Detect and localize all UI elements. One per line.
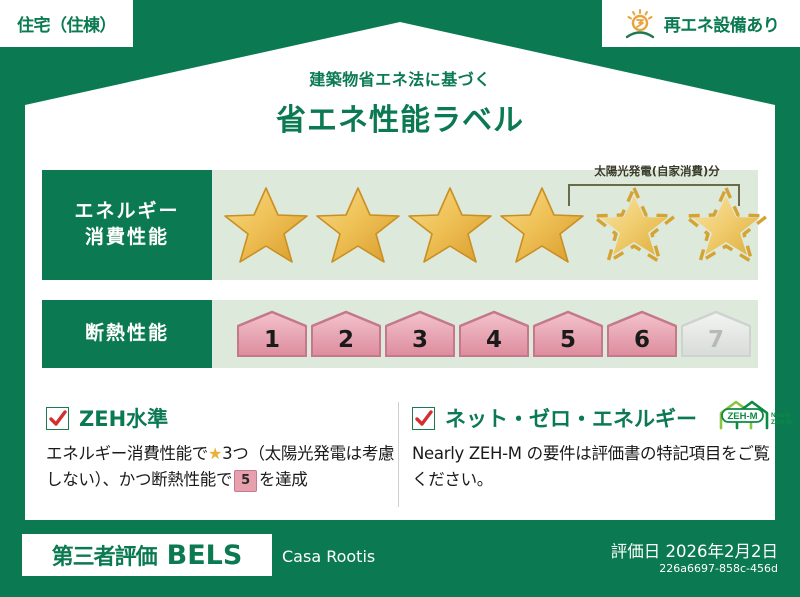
renewable-equipment-label: 再エネ設備あり bbox=[664, 11, 780, 36]
net-zero-energy-description: Nearly ZEH-M の要件は評価書の特記項目をご覧ください。 bbox=[412, 441, 772, 492]
svg-text:ZEH-M: ZEH-M bbox=[727, 411, 757, 422]
building-type-badge: 住宅（住棟） bbox=[0, 0, 133, 47]
insulation-performance-label-cell: 断熱性能 bbox=[42, 300, 212, 368]
renewable-equipment-badge: 再エネ設備あり bbox=[602, 0, 800, 47]
evaluation-date: 評価日 2026年2月2日 bbox=[611, 538, 778, 562]
zeh-desc-part3: を達成 bbox=[259, 470, 308, 489]
bels-logo-label: BELS bbox=[167, 540, 243, 571]
zeh-standard-title: ZEH水準 bbox=[79, 403, 168, 433]
grade-value: 5 bbox=[560, 327, 576, 358]
evaluation-id: 226a6697-858c-456d bbox=[659, 562, 778, 575]
svg-text:ZEH-M: ZEH-M bbox=[771, 419, 792, 426]
energy-performance-label-cell: エネルギー 消費性能 bbox=[42, 170, 212, 280]
page-title: 建築物省エネ法に基づく 省エネ性能ラベル bbox=[0, 66, 800, 139]
zeh-standard-block: ZEH水準 エネルギー消費性能で★3つ（太陽光発電は考慮しない）、かつ断熱性能で… bbox=[46, 404, 401, 492]
insulation-grade-7: 7 bbox=[680, 310, 752, 358]
energy-label-line1: エネルギー bbox=[74, 199, 179, 225]
grade-value: 4 bbox=[486, 327, 502, 358]
zeh-standard-description: エネルギー消費性能で★3つ（太陽光発電は考慮しない）、かつ断熱性能で5を達成 bbox=[46, 441, 401, 492]
zeh-desc-part1: エネルギー消費性能で bbox=[46, 444, 208, 463]
svg-text:Nearly: Nearly bbox=[771, 412, 791, 419]
star-filled bbox=[406, 182, 494, 268]
grade-value: 7 bbox=[708, 327, 724, 358]
grade-value: 2 bbox=[338, 327, 354, 358]
star-icon: ★ bbox=[208, 444, 222, 463]
insulation-grade-5: 5 bbox=[532, 310, 604, 358]
net-zero-energy-checkbox[interactable] bbox=[412, 407, 435, 430]
insulation-grade-2: 2 bbox=[310, 310, 382, 358]
evaluation-date-value: 2026年2月2日 bbox=[666, 542, 779, 561]
insulation-performance-row: 断熱性能 1 bbox=[42, 300, 758, 368]
solar-caption: 太陽光発電(自家消費)分 bbox=[542, 163, 772, 179]
grade-badge: 5 bbox=[234, 470, 257, 492]
sun-icon bbox=[623, 8, 657, 40]
solar-bracket bbox=[568, 184, 740, 206]
evaluation-date-label: 評価日 bbox=[611, 542, 661, 561]
insulation-grade-scale: 1 2 3 bbox=[212, 310, 752, 358]
insulation-grade-3: 3 bbox=[384, 310, 456, 358]
grade-value: 1 bbox=[264, 327, 280, 358]
zeh-m-logo-icon: ZEH-M Nearly ZEH-M bbox=[715, 398, 793, 438]
net-zero-energy-header: ネット・ゼロ・エネルギー ZEH-M Nearly ZEH-M bbox=[412, 404, 772, 432]
net-zero-energy-block: ネット・ゼロ・エネルギー ZEH-M Nearly ZEH-M Nearly Z… bbox=[412, 404, 772, 492]
star-filled bbox=[222, 182, 310, 268]
insulation-label: 断熱性能 bbox=[85, 321, 169, 347]
net-zero-energy-title: ネット・ゼロ・エネルギー bbox=[445, 403, 697, 433]
title-main: 省エネ性能ラベル bbox=[0, 95, 800, 139]
energy-label-line2: 消費性能 bbox=[85, 225, 169, 251]
insulation-grade-4: 4 bbox=[458, 310, 530, 358]
insulation-grade-6: 6 bbox=[606, 310, 678, 358]
grade-value: 6 bbox=[634, 327, 650, 358]
energy-performance-body: 太陽光発電(自家消費)分 bbox=[212, 170, 770, 280]
insulation-performance-body: 1 2 3 bbox=[212, 300, 758, 368]
energy-performance-label: 住宅（住棟） 再エネ設備あり 建築物省エネ法に基づく 省エネ性能ラベル bbox=[0, 0, 800, 597]
zeh-standard-header: ZEH水準 bbox=[46, 404, 401, 432]
energy-performance-row: エネルギー 消費性能 太陽光発電(自家消費)分 bbox=[42, 170, 758, 280]
building-type-label: 住宅（住棟） bbox=[17, 11, 116, 36]
title-subtitle: 建築物省エネ法に基づく bbox=[0, 66, 800, 90]
grade-value: 3 bbox=[412, 327, 428, 358]
zeh-standard-checkbox[interactable] bbox=[46, 407, 69, 430]
third-party-label: 第三者評価 bbox=[52, 539, 157, 571]
star-filled bbox=[314, 182, 402, 268]
bels-certification-box: 第三者評価 BELS bbox=[22, 534, 272, 576]
building-name: Casa Rootis bbox=[282, 547, 375, 566]
insulation-grade-1: 1 bbox=[236, 310, 308, 358]
